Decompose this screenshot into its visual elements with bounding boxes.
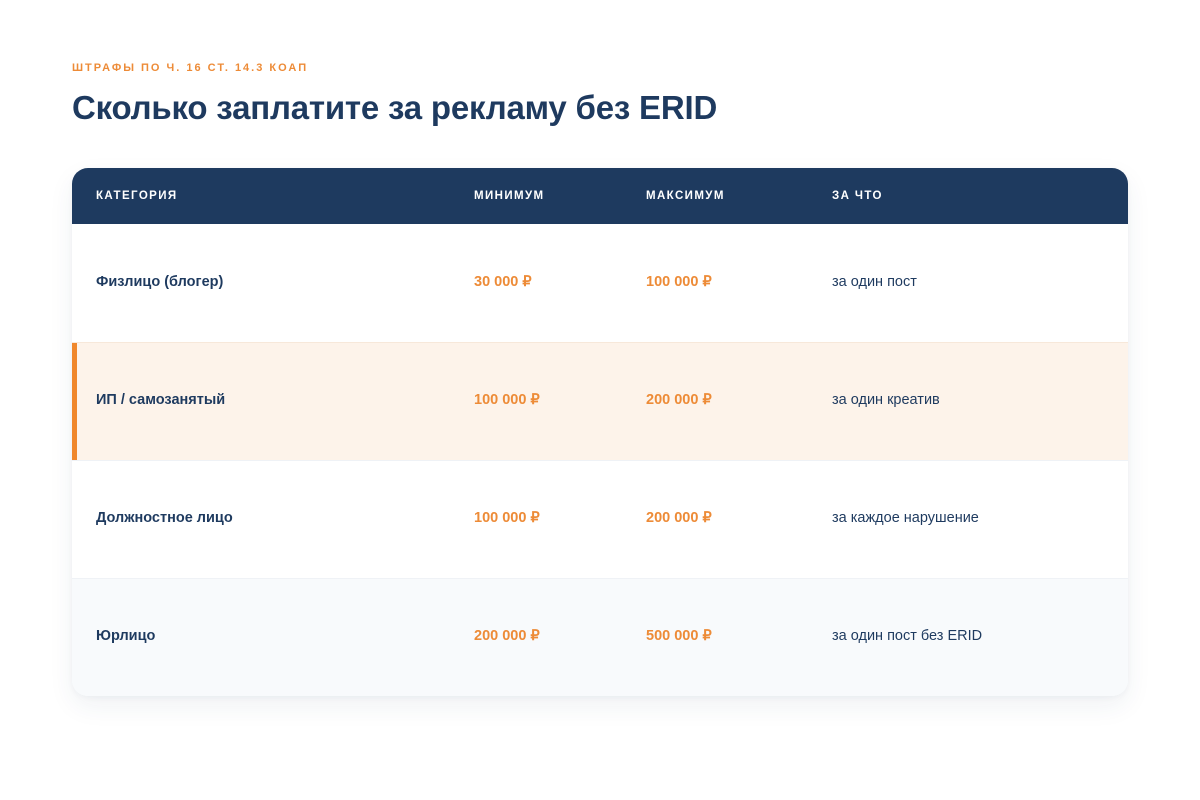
cell-category: Юрлицо bbox=[72, 578, 474, 696]
cell-reason: за один креатив bbox=[832, 342, 1128, 460]
cell-category: ИП / самозанятый bbox=[72, 342, 474, 460]
cell-minimum: 100 000 ₽ bbox=[474, 342, 646, 460]
table-row-highlighted: ИП / самозанятый 100 000 ₽ 200 000 ₽ за … bbox=[72, 342, 1128, 460]
column-header-minimum: МИНИМУМ bbox=[474, 168, 646, 224]
table-header: КАТЕГОРИЯ МИНИМУМ МАКСИМУМ ЗА ЧТО bbox=[72, 168, 1128, 224]
table-row: Должностное лицо 100 000 ₽ 200 000 ₽ за … bbox=[72, 460, 1128, 578]
cell-maximum: 100 000 ₽ bbox=[646, 224, 832, 342]
header-block: ШТРАФЫ ПО Ч. 16 СТ. 14.3 КОАП Сколько за… bbox=[72, 62, 1132, 127]
cell-category: Физлицо (блогер) bbox=[72, 224, 474, 342]
fines-table-card: КАТЕГОРИЯ МИНИМУМ МАКСИМУМ ЗА ЧТО Физлиц… bbox=[72, 168, 1128, 696]
cell-category: Должностное лицо bbox=[72, 460, 474, 578]
page-title: Сколько заплатите за рекламу без ERID bbox=[72, 89, 1132, 127]
cell-minimum: 200 000 ₽ bbox=[474, 578, 646, 696]
page-root: ШТРАФЫ ПО Ч. 16 СТ. 14.3 КОАП Сколько за… bbox=[0, 0, 1200, 800]
table-row: Физлицо (блогер) 30 000 ₽ 100 000 ₽ за о… bbox=[72, 224, 1128, 342]
column-header-category: КАТЕГОРИЯ bbox=[72, 168, 474, 224]
table-body: Физлицо (блогер) 30 000 ₽ 100 000 ₽ за о… bbox=[72, 224, 1128, 696]
table-row: Юрлицо 200 000 ₽ 500 000 ₽ за один пост … bbox=[72, 578, 1128, 696]
cell-maximum: 200 000 ₽ bbox=[646, 460, 832, 578]
fines-table: КАТЕГОРИЯ МИНИМУМ МАКСИМУМ ЗА ЧТО Физлиц… bbox=[72, 168, 1128, 696]
cell-reason: за каждое нарушение bbox=[832, 460, 1128, 578]
table-header-row: КАТЕГОРИЯ МИНИМУМ МАКСИМУМ ЗА ЧТО bbox=[72, 168, 1128, 224]
column-header-maximum: МАКСИМУМ bbox=[646, 168, 832, 224]
column-header-reason: ЗА ЧТО bbox=[832, 168, 1128, 224]
eyebrow-label: ШТРАФЫ ПО Ч. 16 СТ. 14.3 КОАП bbox=[72, 62, 1132, 75]
cell-minimum: 30 000 ₽ bbox=[474, 224, 646, 342]
cell-maximum: 200 000 ₽ bbox=[646, 342, 832, 460]
cell-minimum: 100 000 ₽ bbox=[474, 460, 646, 578]
cell-maximum: 500 000 ₽ bbox=[646, 578, 832, 696]
cell-reason: за один пост bbox=[832, 224, 1128, 342]
cell-reason: за один пост без ERID bbox=[832, 578, 1128, 696]
